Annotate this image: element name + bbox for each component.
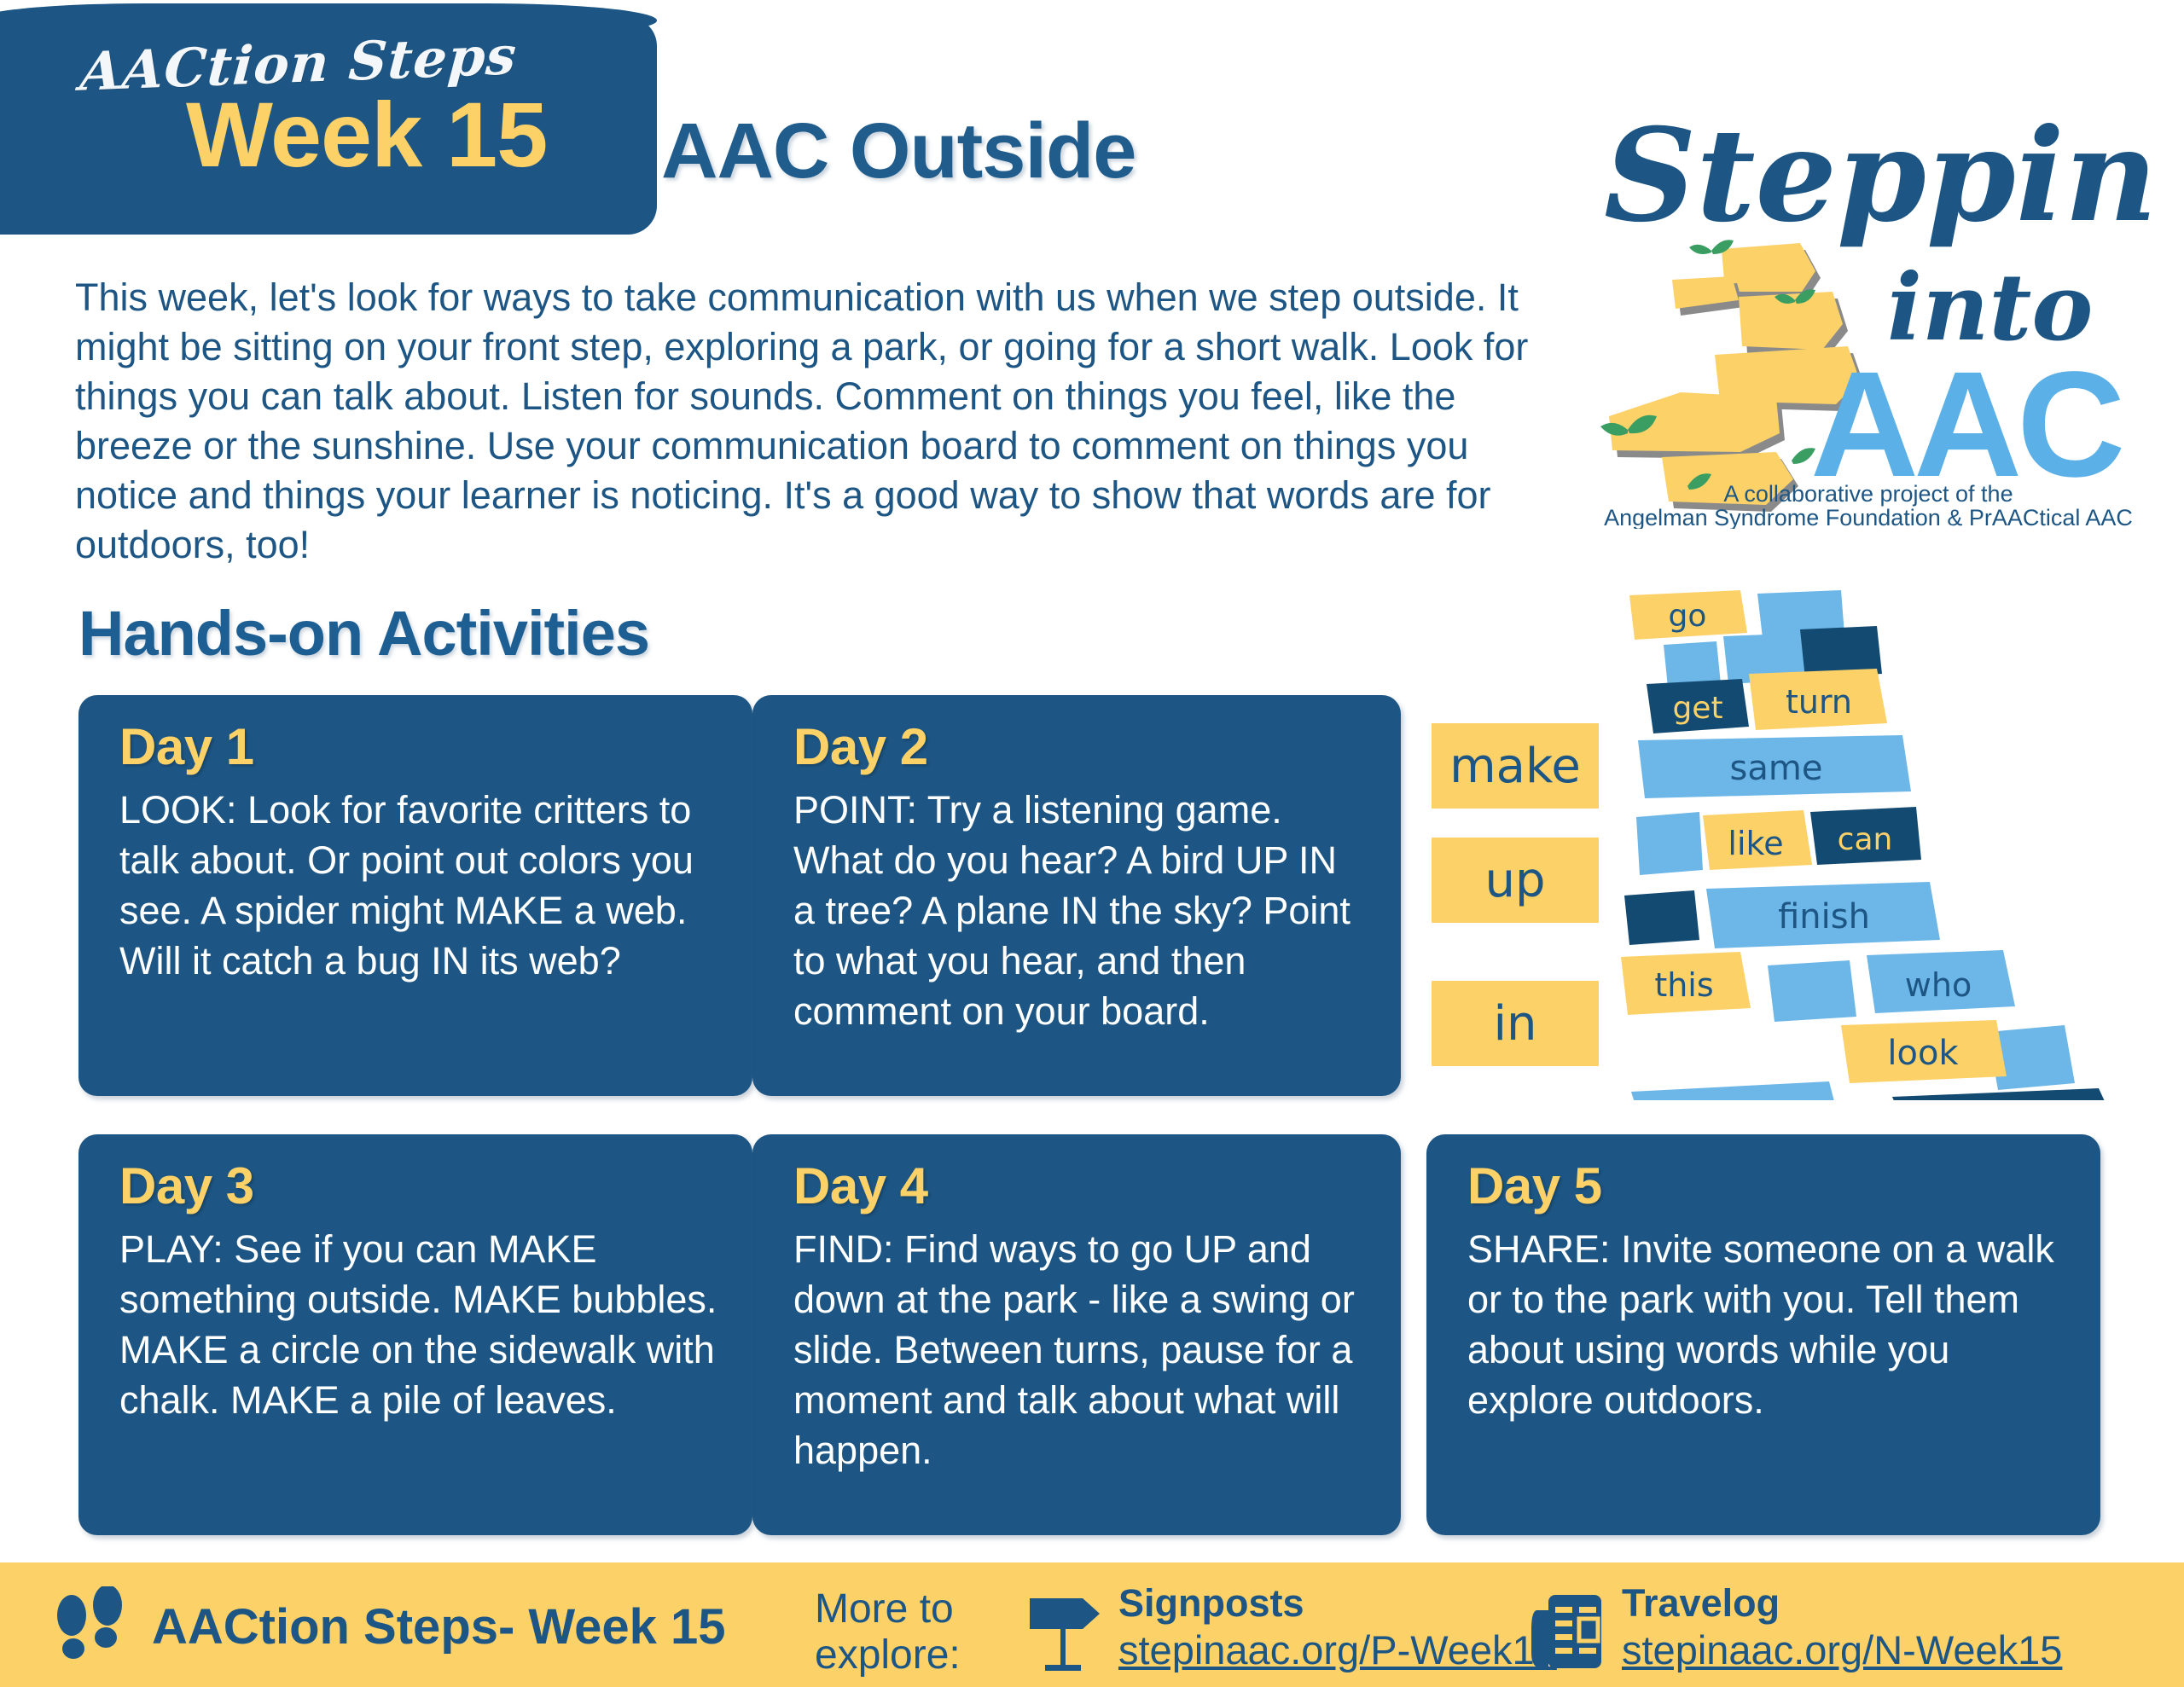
word-stone-label: go [1669,599,1707,634]
word-stone[interactable]: same [1638,735,1911,798]
day-card-body: PLAY: See if you can MAKE something outs… [119,1224,718,1425]
word-stone[interactable]: who [1867,950,2015,1013]
word-stone-label: who [1905,966,1972,1004]
intro-paragraph: This week, let's look for ways to take c… [75,273,1551,570]
word-stone[interactable]: this [1621,952,1751,1015]
word-stone[interactable]: more [1892,1088,2129,1100]
activities-heading: Hands-on Activities [78,597,649,670]
day-card[interactable]: Day 1 LOOK: Look for favorite critters t… [78,695,752,1096]
day-card-title: Day 5 [1467,1157,2066,1215]
word-stone-label: get [1672,691,1722,726]
signposts-text: Signposts stepinaac.org/P-Week15 [1118,1581,1557,1675]
day-card[interactable]: Day 5 SHARE: Invite someone on a walk or… [1426,1134,2100,1535]
more-to-explore-line2: explore: [815,1632,961,1678]
day-card[interactable]: Day 3 PLAY: See if you can MAKE somethin… [78,1134,752,1535]
signposts-url[interactable]: stepinaac.org/P-Week15 [1118,1627,1557,1673]
banner-week-label: Week 15 [186,81,547,188]
word-stone-label: can [1838,822,1893,857]
footer-bar: AACtion Steps- Week 15 More to explore: … [0,1562,2184,1687]
word-stone-label: finish [1778,897,1870,936]
word-stone[interactable]: like [1703,810,1812,870]
word-stone[interactable]: different [1631,1081,1846,1100]
word-stone-label: same [1730,749,1823,788]
day-card-title: Day 4 [793,1157,1367,1215]
footprints-icon [51,1586,131,1668]
word-stone-label: this [1654,966,1713,1004]
day-card-body: POINT: Try a listening game. What do you… [793,785,1367,1036]
word-stone-label: turn [1786,683,1852,721]
poster-page: AACtion Steps Week 15 AAC Outside [0,0,2184,1687]
stepping-stones-word-graphic: go get turn same like can [1621,588,2184,1100]
word-stone[interactable]: go [1629,590,1747,640]
day-card-body: FIND: Find ways to go UP and down at the… [793,1224,1367,1475]
day-card[interactable]: Day 4 FIND: Find ways to go UP and down … [752,1134,1401,1535]
core-word-tile-make[interactable]: make [1432,723,1599,809]
day-card-title: Day 2 [793,717,1367,776]
day-card-body: SHARE: Invite someone on a walk or to th… [1467,1224,2066,1425]
core-word-tile-in[interactable]: in [1432,981,1599,1066]
footer-title: AACtion Steps- Week 15 [152,1598,726,1655]
core-word-tile-up[interactable]: up [1432,838,1599,923]
stepping-into-aac-logo: Stepping into AAC A collaborative projec… [1587,68,2150,529]
logo-tagline-line2: Angelman Syndrome Foundation & PrAACtica… [1604,505,2133,529]
day-card-title: Day 1 [119,717,718,776]
logo-tagline-line1: A collaborative project of the [1723,481,2013,507]
word-stone[interactable]: finish [1706,882,1940,948]
day-card-title: Day 3 [119,1157,718,1215]
word-stone-label: look [1887,1034,1959,1073]
signposts-label: Signposts [1118,1581,1557,1626]
word-stone[interactable]: get [1647,679,1749,733]
day-card-body: LOOK: Look for favorite critters to talk… [119,785,718,986]
signpost-icon [1026,1586,1105,1675]
more-to-explore-label: More to explore: [815,1586,961,1678]
word-stone-label: like [1728,825,1783,862]
page-title: AAC Outside [661,107,1136,196]
day-card[interactable]: Day 2 POINT: Try a listening game. What … [752,695,1401,1096]
more-to-explore-line1: More to [815,1586,961,1632]
travelog-text: Travelog stepinaac.org/N-Week15 [1622,1581,2062,1675]
travelog-url[interactable]: stepinaac.org/N-Week15 [1622,1627,2062,1673]
travelog-label: Travelog [1622,1581,2062,1626]
word-stone[interactable]: can [1810,807,1921,865]
word-stone[interactable]: look [1841,1020,2007,1083]
word-stone[interactable]: turn [1749,669,1887,730]
logo-stepping-text: Stepping [1604,101,2150,251]
newspaper-icon [1530,1586,1608,1675]
